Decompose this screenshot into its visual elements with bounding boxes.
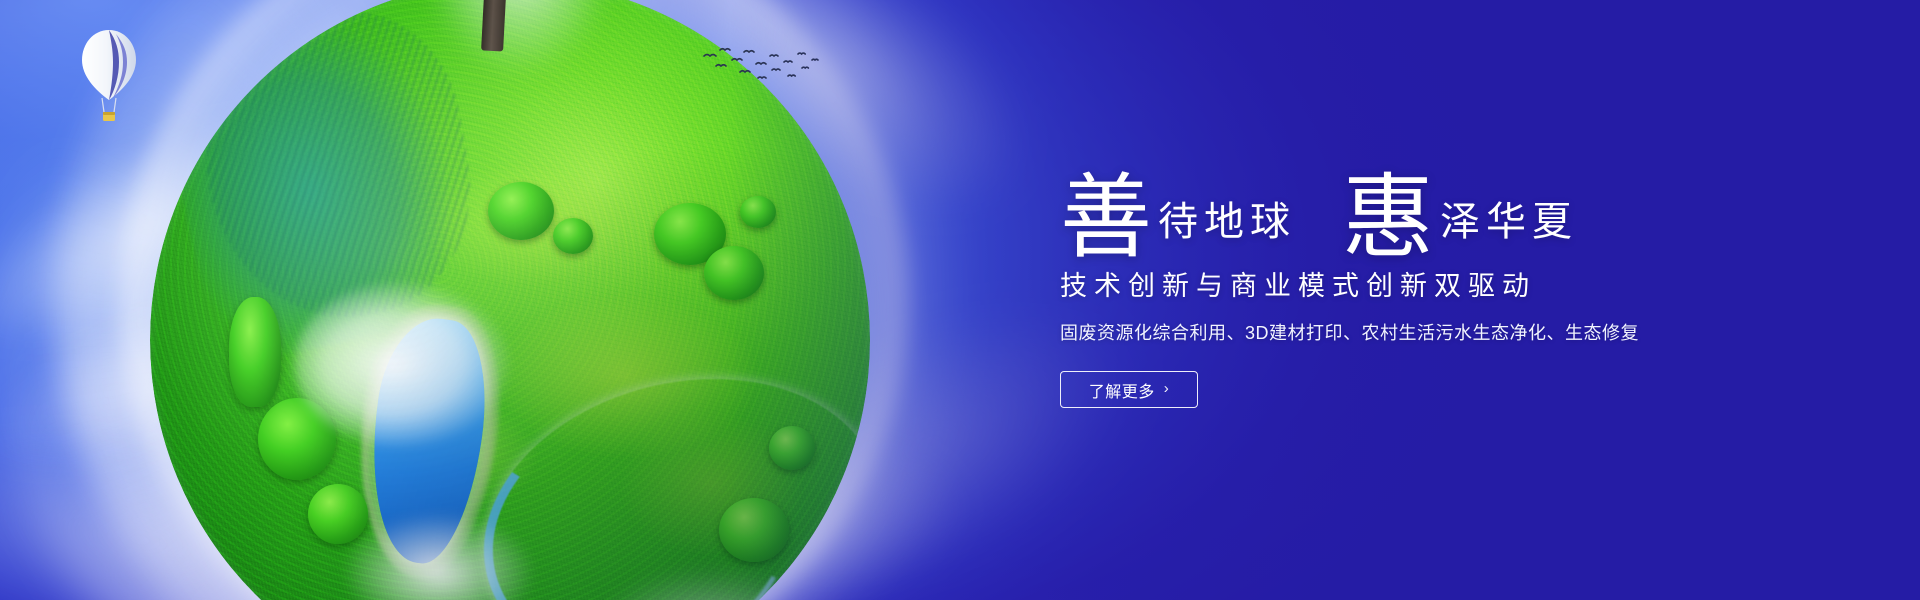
page-title: 善 待地球 惠 泽华夏 [1060,150,1680,258]
learn-more-button[interactable]: 了解更多 › [1060,371,1198,408]
hero-content: 善 待地球 惠 泽华夏 技术创新与商业模式创新双驱动 固废资源化综合利用、3D建… [1060,150,1680,408]
headline-phrase2-small: 泽华夏 [1440,202,1578,242]
headline-phrase2-large: 惠 [1342,172,1434,264]
page-description: 固废资源化综合利用、3D建材打印、农村生活污水生态净化、生态修复 [1060,319,1680,345]
learn-more-label: 了解更多 [1089,378,1155,402]
hero-banner: 善 待地球 惠 泽华夏 技术创新与商业模式创新双驱动 固废资源化综合利用、3D建… [0,0,1920,600]
headline-phrase1-small: 待地球 [1158,202,1296,242]
chevron-right-icon: › [1164,381,1170,396]
headline-phrase1-large: 善 [1060,172,1152,264]
